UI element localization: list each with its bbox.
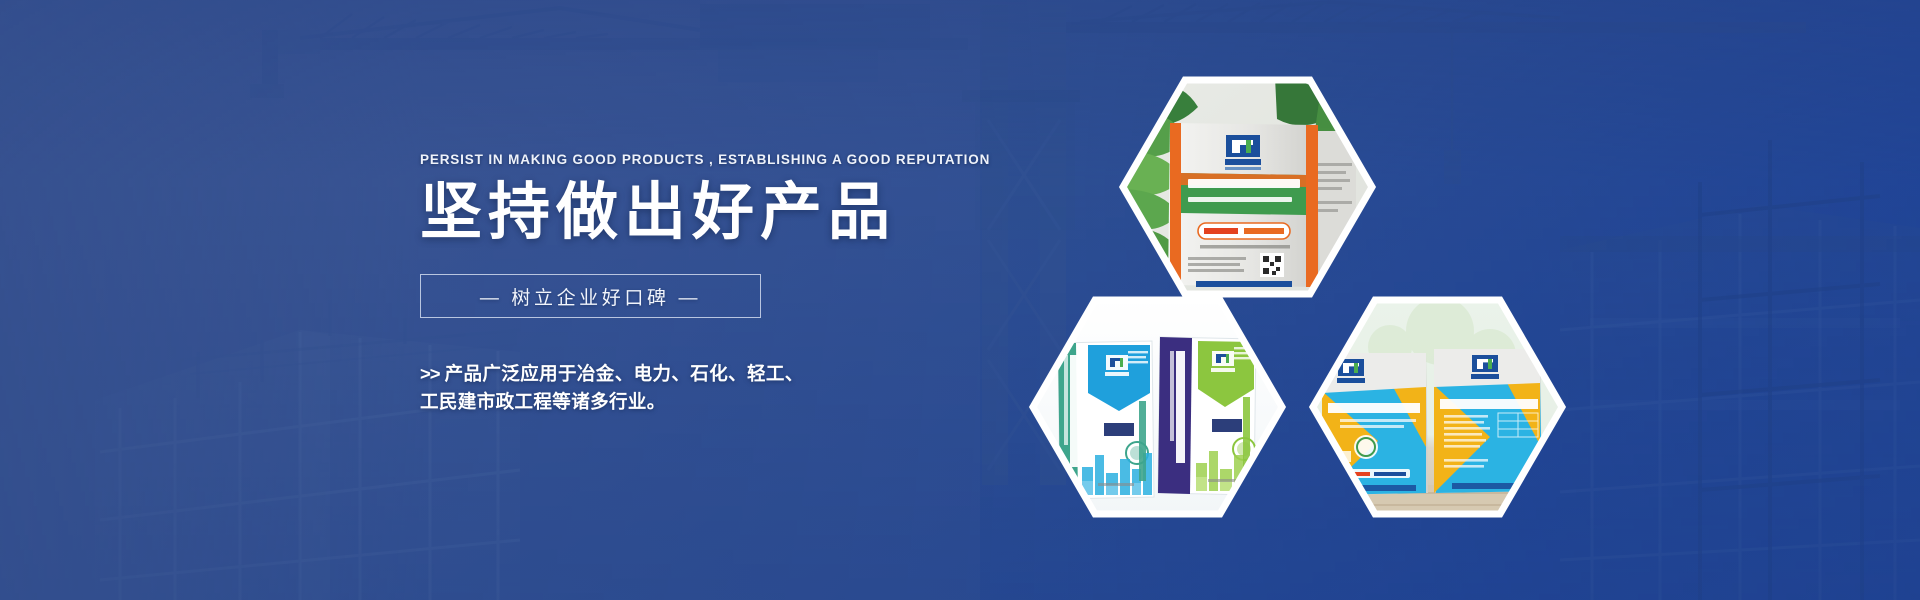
cgm-grout-bag <box>1168 123 1320 287</box>
description-text: >>产品广泛应用于冶金、电力、石化、轻工、工民建市政工程等诸多行业。 <box>420 360 820 416</box>
product-hexagon-top <box>1120 75 1380 300</box>
hero-text-block: PERSIST IN MAKING GOOD PRODUCTS , ESTABL… <box>420 152 1120 416</box>
brand-logo-br-right <box>1471 355 1499 379</box>
subtitle-box: — 树立企业好口碑 — <box>420 274 761 318</box>
double-chevron-icon: >> <box>420 363 440 384</box>
description-body: 产品广泛应用于冶金、电力、石化、轻工、工民建市政工程等诸多行业。 <box>420 363 804 412</box>
page-title: 坚持做出好产品 <box>420 181 1120 244</box>
product-hexagon-bottom-left <box>1030 295 1290 520</box>
hero-banner: PERSIST IN MAKING GOOD PRODUCTS , ESTABL… <box>0 0 1920 600</box>
brand-logo-bl-a <box>1211 351 1235 372</box>
badge-top <box>1198 223 1290 239</box>
eyebrow-tagline: PERSIST IN MAKING GOOD PRODUCTS , ESTABL… <box>420 152 1120 167</box>
qr-code-top <box>1260 253 1284 277</box>
brand-logo-top <box>1225 135 1261 170</box>
road-repair-bag-left <box>1322 353 1428 495</box>
variant-label-b <box>1104 423 1134 436</box>
product-hexagon-cluster <box>1020 55 1590 565</box>
product-hexagon-bottom-right <box>1310 295 1570 520</box>
subtitle-text: — 树立企业好口碑 — <box>480 283 701 310</box>
brand-logo-bl-b <box>1105 355 1129 376</box>
variant-label-a <box>1212 419 1242 432</box>
